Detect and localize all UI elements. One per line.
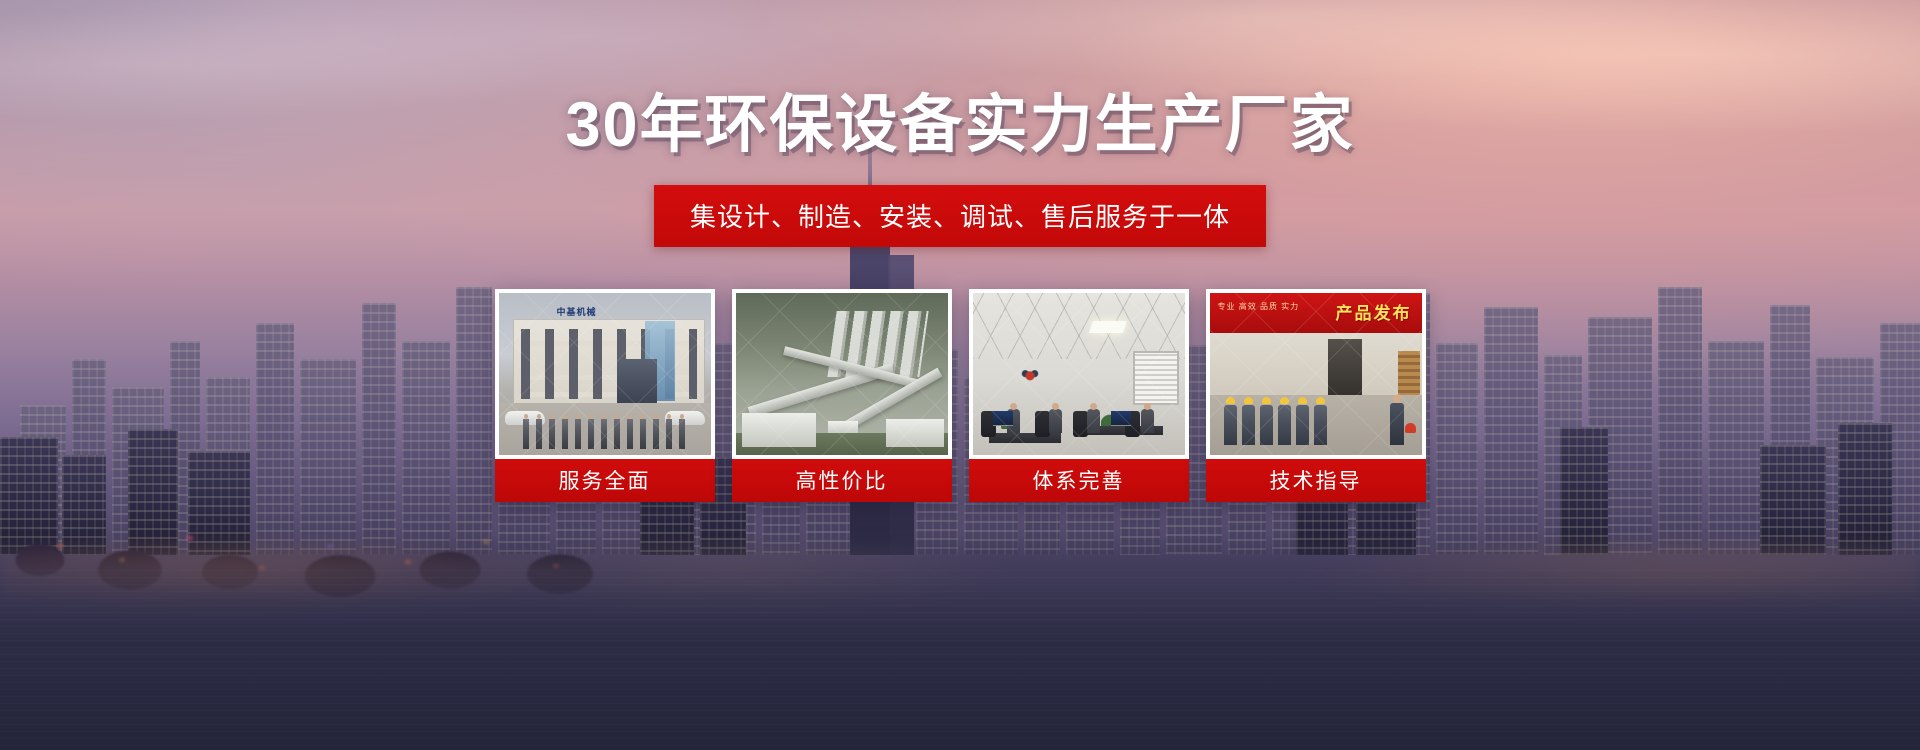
feature-card-list: 中基机械 服务全面 — [495, 289, 1426, 502]
feature-card[interactable]: 高性价比 — [732, 289, 952, 502]
card-label: 服务全面 — [495, 459, 715, 502]
card-label: 体系完善 — [969, 459, 1189, 502]
banner-headline: 30年环保设备实力生产厂家 — [565, 92, 1354, 159]
card-photo-workshop: 专业 高效 品质 实力 产品发布 — [1210, 293, 1422, 455]
card-photo-office-building: 中基机械 — [499, 293, 711, 455]
banner-content: 30年环保设备实力生产厂家 集设计、制造、安装、调试、售后服务于一体 中基机械 — [0, 0, 1920, 750]
card-photo-plant-aerial — [736, 293, 948, 455]
card-label: 高性价比 — [732, 459, 952, 502]
building-signage: 中基机械 — [557, 305, 597, 318]
hero-banner: 30年环保设备实力生产厂家 集设计、制造、安装、调试、售后服务于一体 中基机械 — [0, 0, 1920, 750]
feature-card[interactable]: 中基机械 服务全面 — [495, 289, 715, 502]
card-photo-office-interior — [973, 293, 1185, 455]
feature-card[interactable]: 专业 高效 品质 实力 产品发布 技术指导 — [1206, 289, 1426, 502]
feature-card[interactable]: 体系完善 — [969, 289, 1189, 502]
workshop-banner-subtext: 专业 高效 品质 实力 — [1218, 302, 1300, 312]
workshop-banner-text: 产品发布 — [1336, 299, 1412, 324]
banner-subtitle-bar: 集设计、制造、安装、调试、售后服务于一体 — [654, 185, 1266, 247]
card-label: 技术指导 — [1206, 459, 1426, 502]
